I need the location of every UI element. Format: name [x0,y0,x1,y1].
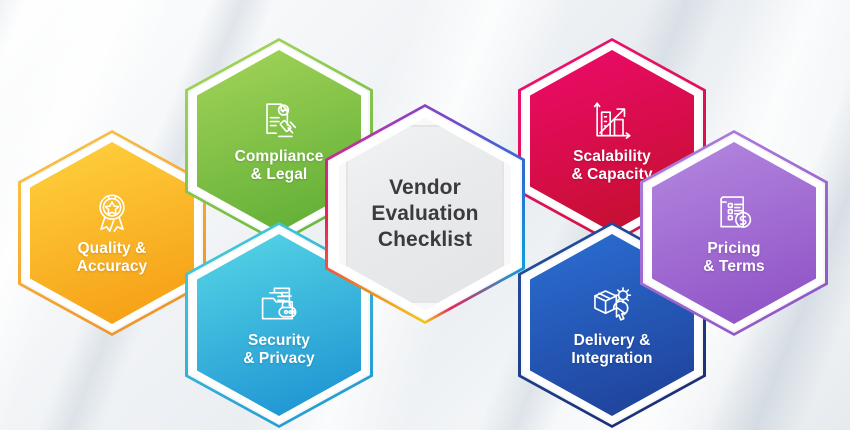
hex-node-pricing-terms[interactable]: Pricing & Terms [640,130,828,336]
invoice-dollar-icon [711,190,757,236]
hex-node-center-hub[interactable]: Vendor Evaluation Checklist [325,104,525,324]
hub-title: Vendor Evaluation Checklist [365,175,484,253]
award-ribbon-icon [89,190,135,236]
hex-label-security-privacy: Security & Privacy [237,332,321,369]
hex-node-quality-accuracy[interactable]: Quality & Accuracy [18,130,206,336]
package-gear-click-icon [589,282,635,328]
document-gavel-icon [256,98,302,144]
infographic-canvas: Quality & Accuracy Compliance & Legal [0,0,850,430]
hex-label-delivery-integration: Delivery & Integration [565,332,658,369]
hex-label-compliance-legal: Compliance & Legal [229,148,330,185]
hex-label-pricing-terms: Pricing & Terms [697,240,771,277]
growth-chart-icon [589,98,635,144]
folder-lock-icon [256,282,302,328]
hex-label-quality-accuracy: Quality & Accuracy [71,240,154,277]
